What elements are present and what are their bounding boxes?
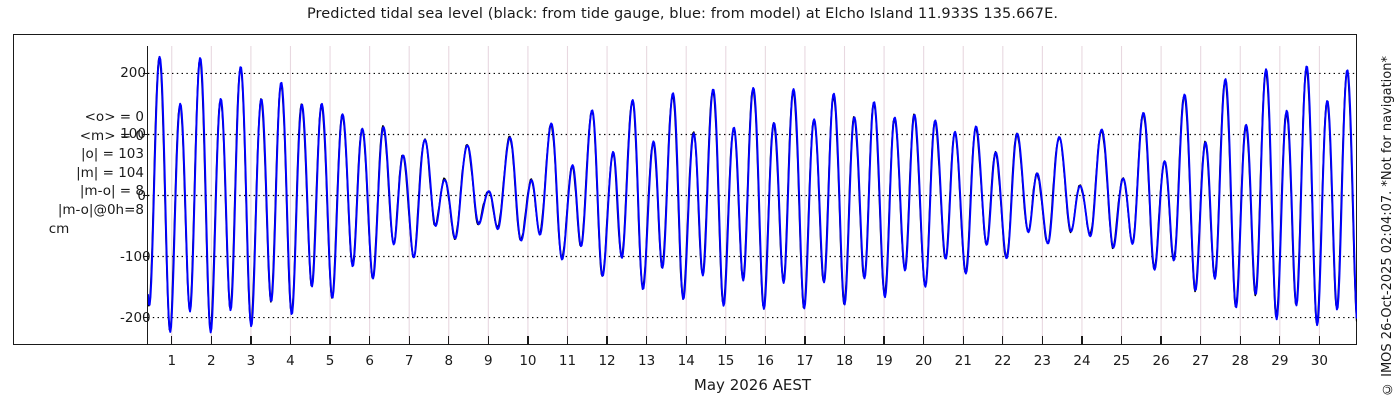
x-axis-tick-label: 7 [405,353,414,369]
stat-rms-diff-0h: |m-o|@0h=8 [0,201,144,220]
x-axis-tick-label: 5 [326,353,335,369]
tidal-chart-page: Predicted tidal sea level (black: from t… [0,0,1400,400]
x-axis-tick-mark [250,336,251,345]
x-axis-tick-mark [1200,336,1201,345]
x-axis-tick-label: 11 [559,353,576,369]
x-axis-tick-label: 27 [1192,353,1209,369]
x-axis-tick-mark [1240,336,1241,345]
x-axis-tick-mark [1279,336,1280,345]
x-axis-tick-mark [804,336,805,345]
y-axis-tick-label: 100 [120,126,146,142]
x-axis-tick-label: 8 [444,353,453,369]
credit-notice: © IMOS 26-Oct-2025 02:04:07. *Not for na… [1380,0,1400,400]
plot-area [148,46,1357,345]
x-axis-tick-mark [567,336,568,345]
x-axis-tick-label: 14 [678,353,695,369]
x-axis-tick-label: 15 [717,353,734,369]
x-axis-tick-mark [409,336,410,345]
x-axis-tick-mark [725,336,726,345]
x-axis-tick-mark [1002,336,1003,345]
x-axis-tick-mark [527,336,528,345]
x-axis-tick-mark [923,336,924,345]
x-axis-tick-mark [1081,336,1082,345]
x-axis-tick-label: 9 [484,353,493,369]
y-axis-tick-label: 0 [120,188,146,204]
x-axis-tick-mark [1042,336,1043,345]
x-axis-tick-label: 17 [796,353,813,369]
x-axis-tick-label: 3 [247,353,256,369]
y-axis-tick-label: 200 [120,65,146,81]
x-axis-tick-label: 28 [1232,353,1249,369]
x-axis-tick-label: 10 [519,353,536,369]
x-axis-tick-label: 2 [207,353,216,369]
x-axis-tick-mark [646,336,647,345]
x-axis-tick-mark [963,336,964,345]
stat-mean-obs: <o> = 0 [0,108,144,127]
x-axis-title: May 2026 AEST [148,376,1357,394]
x-axis-tick-label: 21 [955,353,972,369]
x-axis-tick-label: 23 [1034,353,1051,369]
x-axis-tick-mark [369,336,370,345]
x-axis-tick-mark [290,336,291,345]
stat-rms-obs: |o| = 103 [0,145,144,164]
x-axis-tick-label: 4 [286,353,295,369]
x-axis-tick-mark [844,336,845,345]
y-axis-tick-label: -200 [120,310,146,326]
x-axis-tick-label: 1 [167,353,176,369]
x-axis-tick-mark [171,336,172,345]
stat-units: cm [0,220,144,239]
stat-rms-model: |m| = 104 [0,164,144,183]
x-axis-tick-label: 6 [365,353,374,369]
tide-series-svg [148,46,1357,345]
x-axis-tick-mark [1121,336,1122,345]
x-axis-tick-label: 13 [638,353,655,369]
x-axis-tick-label: 22 [994,353,1011,369]
x-axis-tick-mark [765,336,766,345]
x-axis-tick-mark [488,336,489,345]
x-axis-tick-mark [329,336,330,345]
x-axis-tick-label: 20 [915,353,932,369]
x-axis-tick-label: 12 [598,353,615,369]
x-axis-tick-label: 25 [1113,353,1130,369]
x-axis-tick-mark [686,336,687,345]
x-axis-tick-mark [1319,336,1320,345]
x-axis-tick-label: 19 [875,353,892,369]
x-axis-tick-mark [883,336,884,345]
x-axis-tick-mark [211,336,212,345]
x-axis-tick-label: 26 [1153,353,1170,369]
x-axis-tick-label: 30 [1311,353,1328,369]
x-axis-tick-label: 18 [836,353,853,369]
x-axis-tick-label: 24 [1073,353,1090,369]
x-axis-tick-mark [606,336,607,345]
x-axis-tick-mark [448,336,449,345]
y-axis-tick-label: -100 [120,249,146,265]
x-axis-tick-mark [1160,336,1161,345]
x-axis-tick-label: 29 [1271,353,1288,369]
page-title: Predicted tidal sea level (black: from t… [0,6,1365,22]
x-axis-tick-label: 16 [757,353,774,369]
